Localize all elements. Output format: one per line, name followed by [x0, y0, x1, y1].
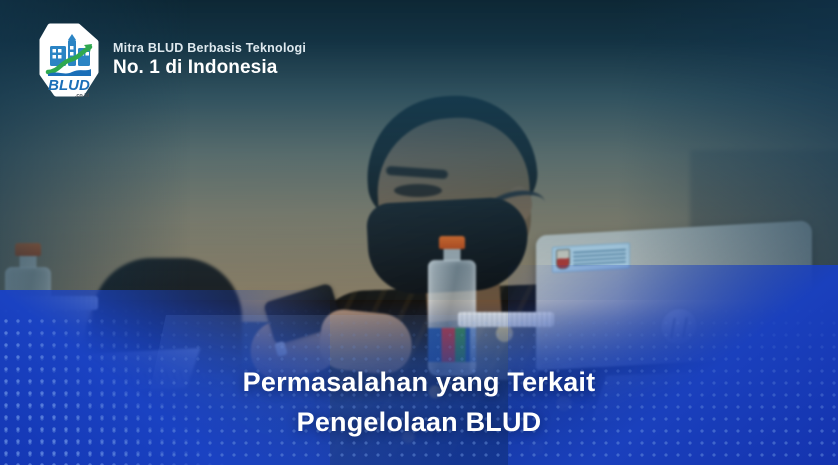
slide-title: Permasalahan yang Terkait Pengelolaan BL… — [0, 362, 838, 442]
logo-wordmark: BLUD — [48, 77, 90, 94]
blud-logo: BLUD .co.id — [38, 22, 100, 98]
logo-domain: .co.id — [75, 93, 89, 98]
brand-header: BLUD .co.id Mitra BLUD Berbasis Teknolog… — [38, 22, 306, 98]
brand-text-block: Mitra BLUD Berbasis Teknologi No. 1 di I… — [113, 41, 306, 79]
title-line-1: Permasalahan yang Terkait — [0, 362, 838, 402]
brand-tagline: Mitra BLUD Berbasis Teknologi — [113, 41, 306, 55]
title-line-2: Pengelolaan BLUD — [0, 402, 838, 442]
brand-headline: No. 1 di Indonesia — [113, 57, 306, 79]
slide-canvas: BLUD .co.id Mitra BLUD Berbasis Teknolog… — [0, 0, 838, 465]
